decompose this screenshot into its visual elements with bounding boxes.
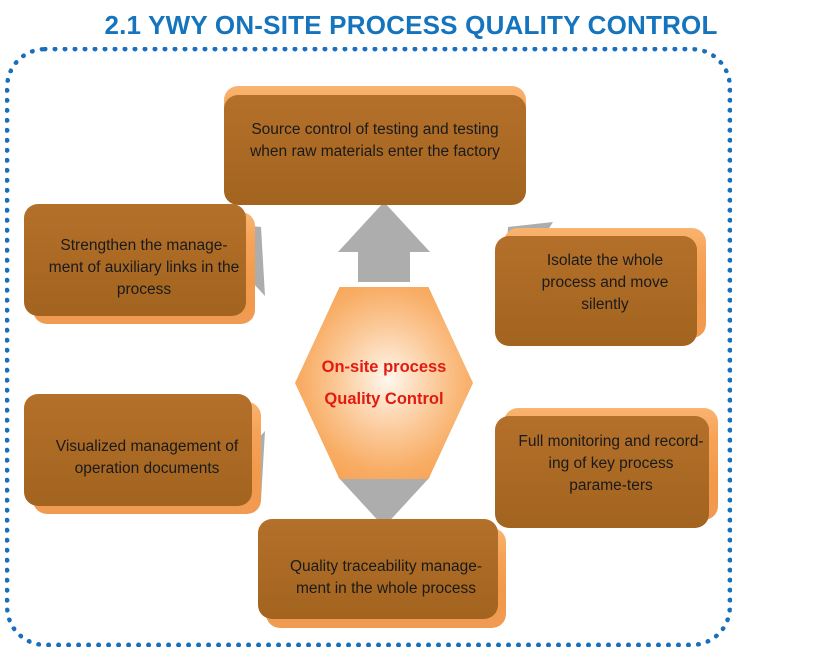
node-label-upper-right: Isolate the whole process and move silen… xyxy=(518,250,692,316)
node-label-lower-left: Visualized management of operation docum… xyxy=(47,436,247,480)
node-box-upper-right[interactable]: Isolate the whole process and move silen… xyxy=(504,228,706,338)
center-hexagon: On-site process Quality Control xyxy=(295,287,473,479)
node-box-top[interactable]: Source control of testing and testing wh… xyxy=(224,86,526,196)
node-box-bottom[interactable]: Quality traceability manage-ment in the … xyxy=(266,528,506,628)
slide-canvas: 2.1 YWY ON-SITE PROCESS QUALITY CONTROL … xyxy=(0,0,822,657)
node-box-lower-left[interactable]: Visualized management of operation docum… xyxy=(33,402,261,514)
node-box-lower-right[interactable]: Full monitoring and record-ing of key pr… xyxy=(504,408,718,520)
node-label-bottom: Quality traceability manage-ment in the … xyxy=(280,556,492,600)
node-label-lower-right: Full monitoring and record-ing of key pr… xyxy=(518,431,704,497)
page-title: 2.1 YWY ON-SITE PROCESS QUALITY CONTROL xyxy=(0,10,822,41)
node-box-upper-left[interactable]: Strengthen the manage-ment of auxiliary … xyxy=(33,212,255,324)
node-label-top: Source control of testing and testing wh… xyxy=(238,119,512,163)
center-label-line1: On-site process xyxy=(322,358,447,377)
node-label-upper-left: Strengthen the manage-ment of auxiliary … xyxy=(47,235,241,301)
center-label-line2: Quality Control xyxy=(324,390,443,409)
center-label: On-site process Quality Control xyxy=(295,287,473,479)
